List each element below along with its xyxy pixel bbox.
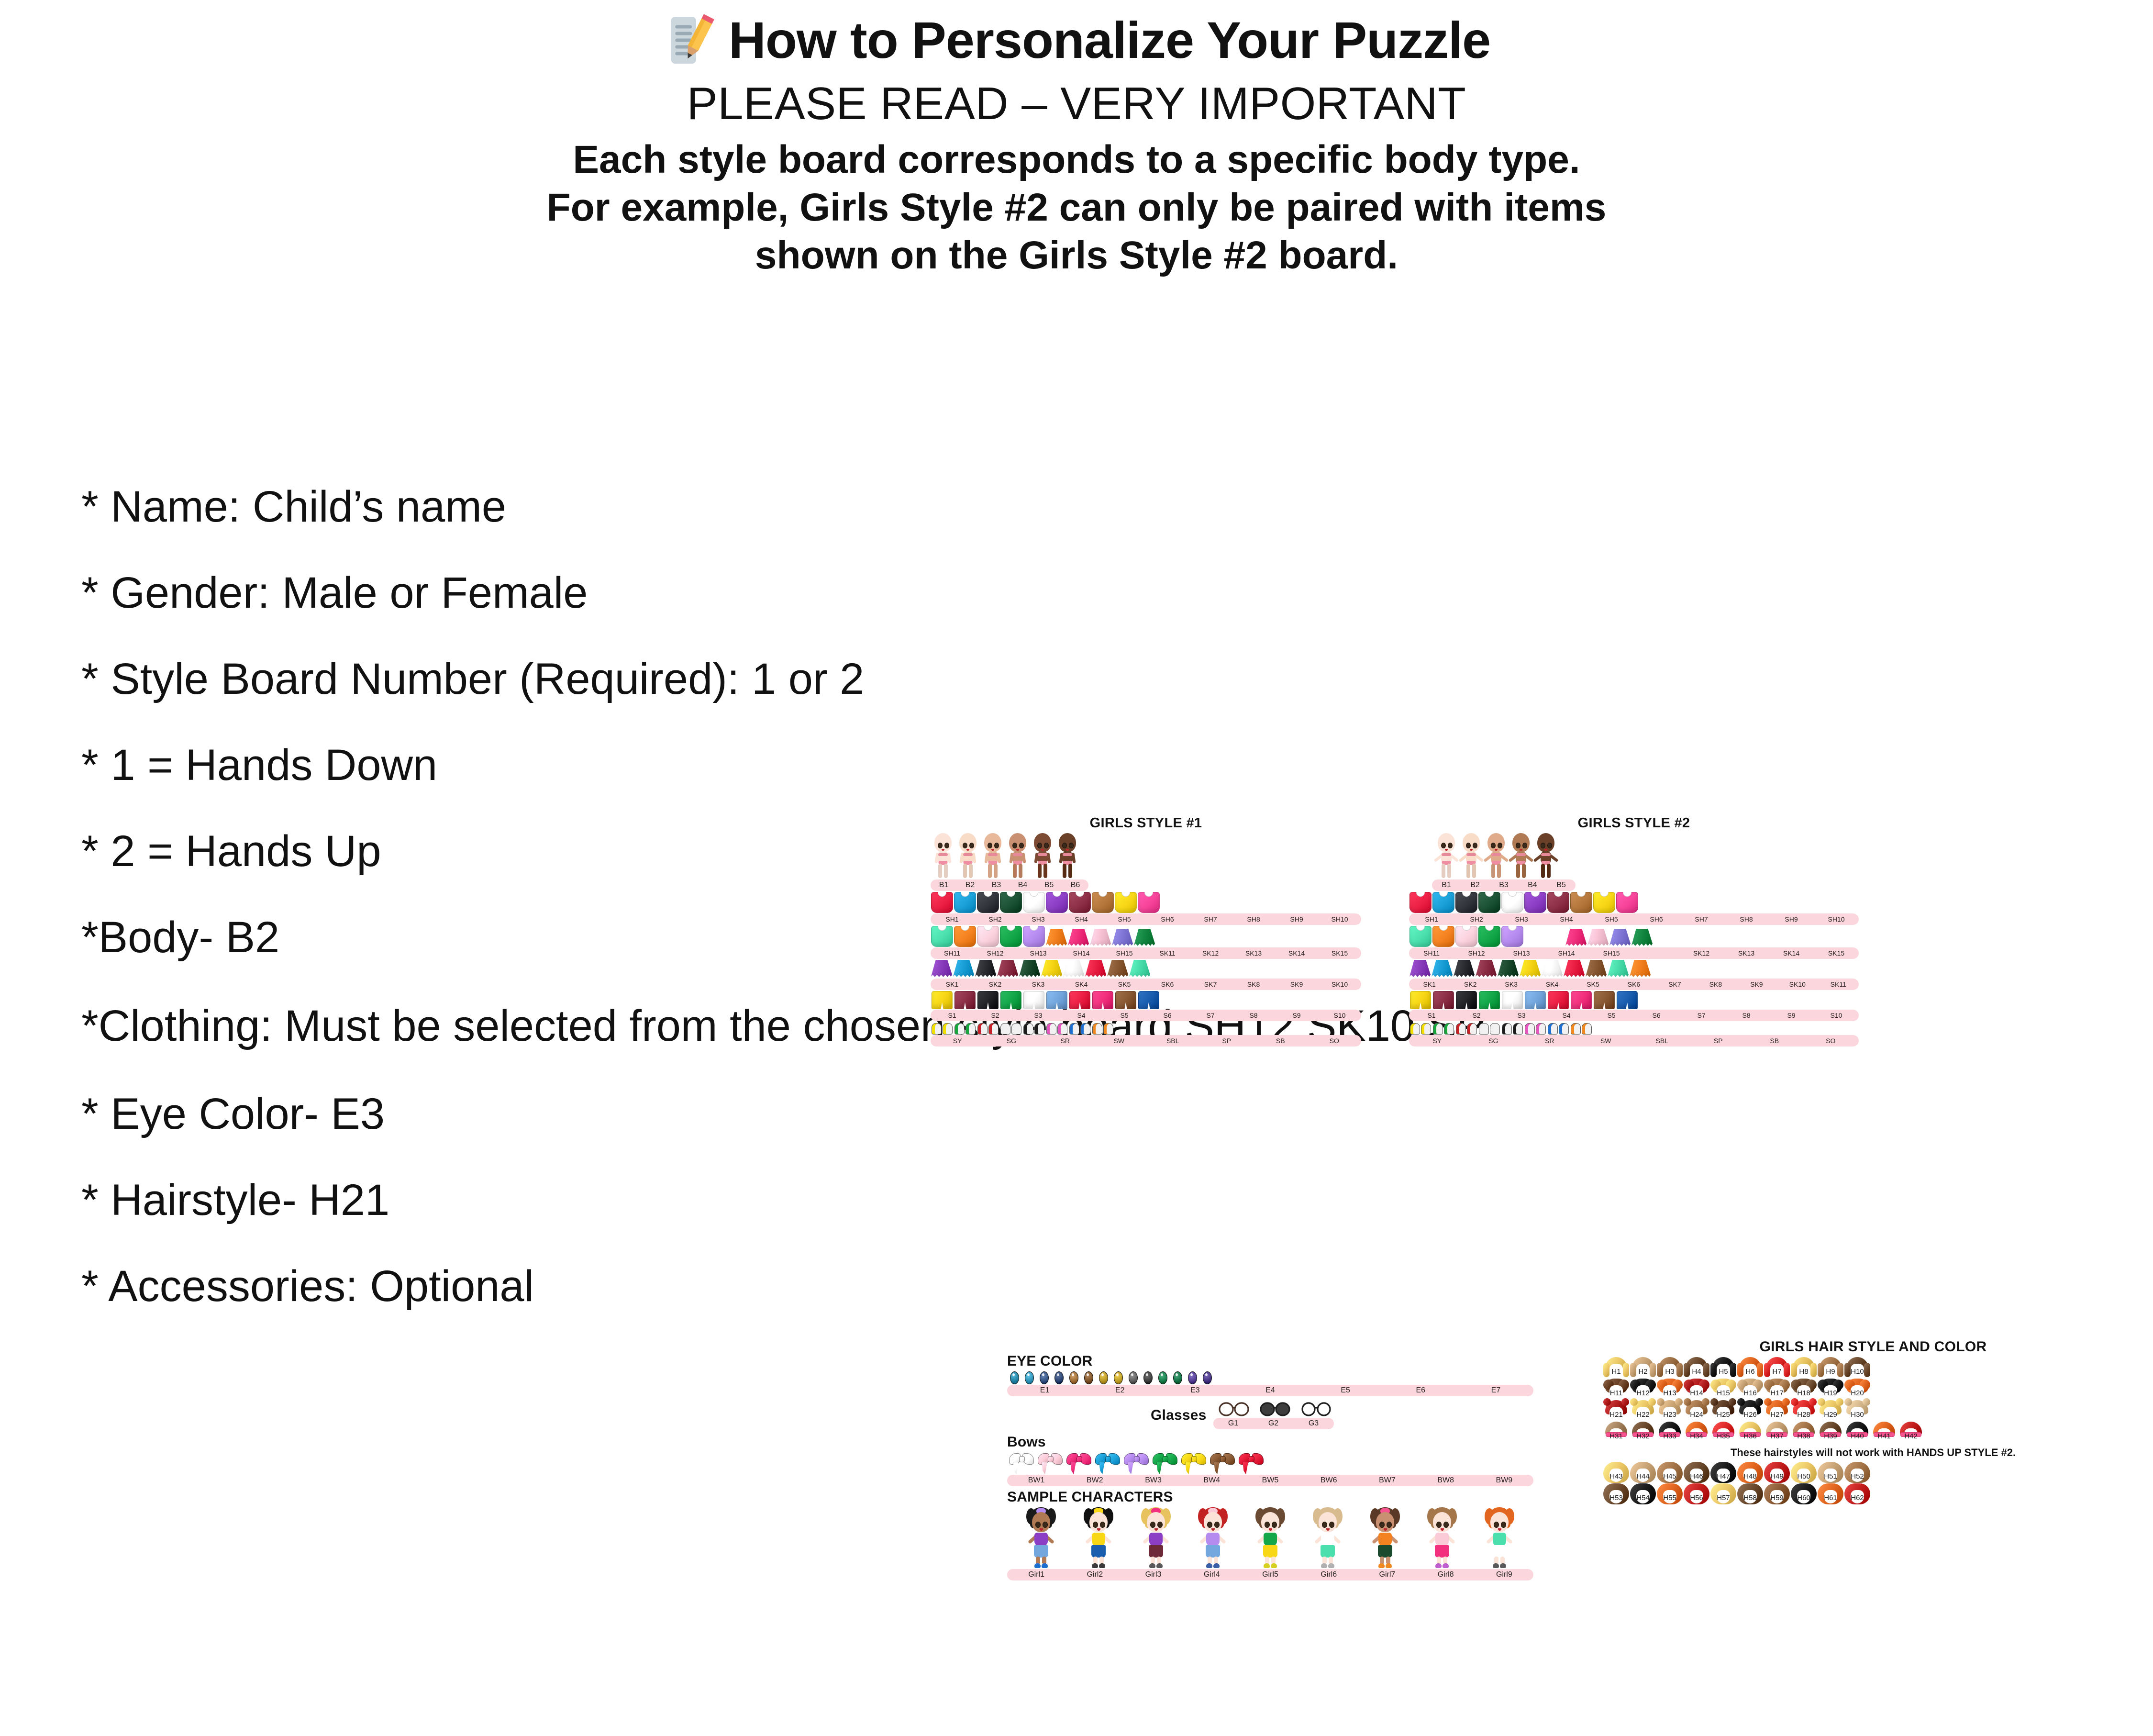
skirt-item[interactable]	[1090, 929, 1111, 947]
item-label: SH7	[1679, 915, 1724, 923]
hairstyle-item[interactable]: H18	[1791, 1379, 1817, 1400]
shirt-item[interactable]	[931, 892, 953, 913]
item-label: SH2	[1454, 915, 1499, 923]
hairstyle-item[interactable]: H36	[1737, 1422, 1763, 1443]
hairstyle-item[interactable]: H35	[1710, 1422, 1736, 1443]
shirt-item[interactable]	[1000, 926, 1022, 947]
item-label: S2	[1454, 1012, 1499, 1019]
hairstyle-item[interactable]: H33	[1657, 1422, 1683, 1443]
hairstyle-item[interactable]: H8	[1791, 1357, 1817, 1378]
shoe-item[interactable]	[1502, 1022, 1523, 1035]
hair-label: H62	[1844, 1494, 1870, 1502]
bow-item[interactable]	[1210, 1452, 1235, 1474]
item-strip	[931, 892, 1361, 913]
skirt-item[interactable]	[1041, 960, 1062, 978]
shorts-item[interactable]	[1502, 991, 1523, 1009]
label-bar: SYSGSRSWSBLSPSBSO	[1409, 1035, 1859, 1046]
shorts-item[interactable]	[1433, 991, 1454, 1009]
hairstyle-item[interactable]: H19	[1818, 1379, 1843, 1400]
shirt-item[interactable]	[977, 892, 999, 913]
item-strip	[1007, 1507, 1533, 1569]
shorts-item[interactable]	[1115, 991, 1136, 1009]
hairstyle-item[interactable]: H14	[1684, 1379, 1709, 1400]
item-label: SK1	[931, 980, 974, 988]
skirt-item[interactable]	[1134, 929, 1155, 947]
hairstyle-item[interactable]: H13	[1657, 1379, 1683, 1400]
sample-character[interactable]	[1370, 1507, 1400, 1569]
hairstyle-item[interactable]: H62	[1844, 1483, 1870, 1504]
hairstyle-item[interactable]: H46	[1684, 1462, 1709, 1483]
board-row: E1E2E3E4E5E6E7	[1007, 1371, 1533, 1396]
item-label: E7	[1458, 1386, 1533, 1395]
shoe-item[interactable]	[1456, 1022, 1477, 1035]
hair-label: H17	[1764, 1389, 1790, 1397]
list-item: * 1 = Hands Down	[81, 743, 2091, 787]
shoe-item[interactable]	[1479, 1022, 1500, 1035]
shirt-item[interactable]	[1432, 926, 1454, 947]
sample-character[interactable]	[1485, 1507, 1514, 1569]
shirt-item[interactable]	[1069, 892, 1091, 913]
skirt-item[interactable]	[931, 960, 952, 978]
label-bar: SK1SK2SK3SK4SK5SK6SK7SK8SK9SK10	[931, 979, 1361, 990]
shorts-item[interactable]	[1138, 991, 1159, 1009]
eye-color-swatch[interactable]	[1084, 1371, 1093, 1384]
body-figure[interactable]	[1030, 833, 1055, 879]
shorts-item[interactable]	[954, 991, 976, 1009]
item-label: SH11	[931, 949, 974, 957]
skirt-item[interactable]	[953, 960, 974, 978]
hairstyle-item[interactable]: H29	[1818, 1400, 1843, 1421]
hair-label: H23	[1657, 1411, 1683, 1419]
shirt-item[interactable]	[1501, 926, 1523, 947]
shorts-item[interactable]	[1479, 991, 1500, 1009]
item-label: E2	[1082, 1386, 1157, 1395]
shirt-item[interactable]	[1432, 892, 1454, 913]
item-strip	[1409, 1022, 1859, 1035]
bow-item[interactable]	[1181, 1452, 1206, 1474]
item-label: SW	[1578, 1037, 1634, 1045]
hair-label: H49	[1764, 1472, 1790, 1480]
body-figure[interactable]	[1509, 833, 1533, 879]
hairstyle-item[interactable]: H28	[1791, 1400, 1817, 1421]
board-row: SK1SK2SK3SK4SK5SK6SK7SK8SK9SK10SK11	[1409, 960, 1859, 990]
item-label: Girl3	[1124, 1570, 1182, 1579]
label-bar: Girl1Girl2Girl3Girl4Girl5Girl6Girl7Girl8…	[1007, 1569, 1533, 1580]
skirt-item[interactable]	[1586, 960, 1607, 978]
glasses-sunglasses-dark-icon[interactable]	[1258, 1401, 1292, 1417]
skirt-item[interactable]	[1542, 960, 1563, 978]
shirt-item[interactable]	[1092, 892, 1114, 913]
item-label: S3	[1499, 1012, 1544, 1019]
skirt-item[interactable]	[1019, 960, 1040, 978]
hairstyle-item[interactable]: H55	[1657, 1483, 1683, 1504]
shirt-item[interactable]	[1547, 892, 1569, 913]
eye-color-swatch[interactable]	[1025, 1371, 1034, 1384]
item-label: SH4	[1544, 915, 1589, 923]
hair-label: H20	[1844, 1389, 1870, 1397]
hairstyle-item[interactable]: H23	[1657, 1400, 1683, 1421]
shoe-item[interactable]	[1046, 1022, 1067, 1035]
skirt-item[interactable]	[1129, 960, 1150, 978]
shoe-item[interactable]	[1092, 1022, 1113, 1035]
glasses-round-clear-icon[interactable]	[1299, 1401, 1333, 1417]
sample-character[interactable]	[1198, 1507, 1228, 1569]
skirt-item[interactable]	[1631, 929, 1653, 947]
hair-label: H44	[1630, 1472, 1656, 1480]
hairstyle-item[interactable]: H56	[1684, 1483, 1709, 1504]
label-bar: SH1SH2SH3SH4SH5SH6SH7SH8SH9SH10	[931, 913, 1361, 925]
hairstyle-item[interactable]: H16	[1737, 1379, 1763, 1400]
eye-color-swatch[interactable]	[1069, 1371, 1078, 1384]
hairstyle-item[interactable]: H6	[1737, 1357, 1763, 1378]
hairstyle-item[interactable]: H20	[1844, 1379, 1870, 1400]
hairstyle-item[interactable]: H61	[1818, 1483, 1843, 1504]
item-label: SH15	[1589, 949, 1634, 957]
hair-label: H55	[1657, 1494, 1683, 1502]
body-figure[interactable]	[980, 833, 1005, 879]
hair-label: H25	[1710, 1411, 1736, 1419]
shorts-item[interactable]	[977, 991, 999, 1009]
hairstyle-item[interactable]: H49	[1764, 1462, 1790, 1483]
item-label: S4	[1544, 1012, 1589, 1019]
hair-label: H4	[1684, 1368, 1709, 1376]
item-label: E3	[1157, 1386, 1232, 1395]
hairstyle-item[interactable]: H54	[1630, 1483, 1656, 1504]
sample-character[interactable]	[1255, 1507, 1285, 1569]
hairstyle-item[interactable]: H4	[1684, 1357, 1709, 1378]
label-bar: G1G2G3	[1213, 1418, 1334, 1429]
shirt-item[interactable]	[954, 892, 976, 913]
skirt-item[interactable]	[1068, 929, 1089, 947]
hair-label: H35	[1710, 1432, 1736, 1440]
shoe-item[interactable]	[932, 1022, 953, 1035]
board-row: SH1SH2SH3SH4SH5SH6SH7SH8SH9SH10	[931, 892, 1361, 925]
skirt-item[interactable]	[1565, 929, 1587, 947]
item-strip	[931, 960, 1361, 978]
item-label: SH9	[1275, 915, 1318, 923]
shirt-item[interactable]	[1000, 892, 1022, 913]
bow-item[interactable]	[1038, 1452, 1063, 1474]
shorts-item[interactable]	[1571, 991, 1592, 1009]
hairstyle-item[interactable]: H10	[1844, 1357, 1870, 1378]
skirt-item[interactable]	[1085, 960, 1106, 978]
hairstyle-item[interactable]: H43	[1603, 1462, 1629, 1483]
skirt-item[interactable]	[1609, 929, 1631, 947]
hairstyle-item[interactable]: H50	[1791, 1462, 1817, 1483]
hair-label: H34	[1684, 1432, 1709, 1440]
body-figure[interactable]	[1459, 833, 1484, 879]
hair-label: H40	[1844, 1432, 1870, 1440]
shorts-item[interactable]	[1525, 991, 1546, 1009]
hairstyle-item[interactable]: H1	[1603, 1357, 1629, 1378]
hairstyle-item[interactable]: H48	[1737, 1462, 1763, 1483]
skirt-item[interactable]	[1630, 960, 1651, 978]
item-label: S1	[931, 1012, 974, 1019]
body-figure[interactable]	[955, 833, 980, 879]
shirt-item[interactable]	[1138, 892, 1160, 913]
hairstyle-item[interactable]: H21	[1603, 1400, 1629, 1421]
item-label: G1	[1213, 1419, 1254, 1428]
shirt-item[interactable]	[1409, 926, 1432, 947]
sample-character[interactable]	[1026, 1507, 1056, 1569]
page-title: How to Personalize Your Puzzle	[729, 14, 1490, 66]
shorts-item[interactable]	[1000, 991, 1021, 1009]
shorts-item[interactable]	[1594, 991, 1615, 1009]
label-bar: S1S2S3S4S5S6S7S8S9S10	[931, 1010, 1361, 1021]
hairstyle-item[interactable]: H2	[1630, 1357, 1656, 1378]
body-figure[interactable]	[931, 833, 955, 879]
item-label: S7	[1679, 1012, 1724, 1019]
board-row: B1B2B3B4B5B6	[931, 833, 1361, 891]
hairstyle-item[interactable]: H32	[1630, 1422, 1656, 1443]
memo-pencil-icon	[663, 13, 716, 67]
hairstyle-item[interactable]: H40	[1844, 1422, 1870, 1443]
body-figure[interactable]	[1055, 833, 1080, 879]
shirt-item[interactable]	[1455, 892, 1477, 913]
item-label: S1	[1409, 1012, 1454, 1019]
label-bar: SH1SH2SH3SH4SH5SH6SH7SH8SH9SH10	[1409, 913, 1859, 925]
eye-color-swatch[interactable]	[1129, 1371, 1138, 1384]
hair-label: H7	[1764, 1368, 1790, 1376]
shoe-item[interactable]	[954, 1022, 976, 1035]
hairstyle-item[interactable]: H31	[1603, 1422, 1629, 1443]
shirt-item[interactable]	[1478, 926, 1500, 947]
bow-item[interactable]	[1153, 1452, 1177, 1474]
item-label: B4	[1010, 881, 1036, 890]
item-label: SH1	[1409, 915, 1454, 923]
body-figure[interactable]	[1005, 833, 1030, 879]
shoe-item[interactable]	[977, 1022, 999, 1035]
item-label: SK3	[1491, 980, 1532, 988]
hairstyle-item[interactable]: H41	[1871, 1422, 1897, 1443]
skirt-item[interactable]	[1107, 960, 1128, 978]
hairstyle-item[interactable]: H57	[1710, 1483, 1736, 1504]
shorts-item[interactable]	[1410, 991, 1431, 1009]
eye-color-swatch[interactable]	[1054, 1371, 1064, 1384]
shorts-item[interactable]	[1046, 991, 1067, 1009]
glasses-cat-eye-clear-icon[interactable]	[1217, 1401, 1251, 1417]
hairstyle-item[interactable]: H15	[1710, 1379, 1736, 1400]
eye-color-swatch[interactable]	[1203, 1371, 1212, 1384]
hair-label: H52	[1844, 1472, 1870, 1480]
shirt-item[interactable]	[977, 926, 999, 947]
item-label: B2	[957, 881, 983, 890]
hair-label: H16	[1737, 1389, 1763, 1397]
hairstyle-item[interactable]: H24	[1684, 1400, 1709, 1421]
shirt-item[interactable]	[931, 926, 953, 947]
hairstyle-item[interactable]: H3	[1657, 1357, 1683, 1378]
hair-row: H53H54H55H56H57H58H59H60H61H62	[1603, 1483, 2143, 1504]
shirt-item[interactable]	[1023, 926, 1045, 947]
hairstyle-item[interactable]: H17	[1764, 1379, 1790, 1400]
shoe-item[interactable]	[1000, 1022, 1021, 1035]
body-figure[interactable]	[1434, 833, 1459, 879]
hair-row: H21H22H23H24H25H26H27H28H29H30	[1603, 1400, 2143, 1421]
skirt-item[interactable]	[1432, 960, 1453, 978]
item-label: SK4	[1532, 980, 1572, 988]
item-label: B3	[983, 881, 1010, 890]
important-notice: Each style board corresponds to a specif…	[120, 136, 2033, 279]
skirt-item[interactable]	[975, 960, 996, 978]
eye-color-swatch[interactable]	[1158, 1371, 1167, 1384]
hairstyle-item[interactable]: H45	[1657, 1462, 1683, 1483]
hair-label: H41	[1871, 1432, 1897, 1440]
item-label: BW3	[1124, 1476, 1182, 1485]
shorts-item[interactable]	[932, 991, 953, 1009]
hairstyle-item[interactable]: H53	[1603, 1483, 1629, 1504]
sample-character[interactable]	[1313, 1507, 1343, 1569]
hairstyle-item[interactable]: H47	[1710, 1462, 1736, 1483]
hairstyle-item[interactable]: H58	[1737, 1483, 1763, 1504]
shirt-item[interactable]	[1478, 892, 1500, 913]
shoe-item[interactable]	[1525, 1022, 1546, 1035]
shirt-item[interactable]	[1046, 892, 1068, 913]
shoe-item[interactable]	[1571, 1022, 1592, 1035]
shoe-item[interactable]	[1410, 1022, 1431, 1035]
board-row: SH11SH12SH13SH14SH15SK11SK12SK13SK14SK15	[931, 926, 1361, 959]
shirt-item[interactable]	[954, 926, 976, 947]
hairstyle-item[interactable]: H26	[1737, 1400, 1763, 1421]
skirt-item[interactable]	[1454, 960, 1475, 978]
shorts-item[interactable]	[1069, 991, 1090, 1009]
label-bar: S1S2S3S4S5S6S7S8S9S10	[1409, 1010, 1859, 1021]
shirt-item[interactable]	[1115, 892, 1137, 913]
shirt-item[interactable]	[1593, 892, 1615, 913]
bow-item[interactable]	[1124, 1452, 1149, 1474]
sample-character[interactable]	[1427, 1507, 1457, 1569]
shorts-item[interactable]	[1092, 991, 1113, 1009]
bow-item[interactable]	[1095, 1452, 1120, 1474]
hair-label: H3	[1657, 1368, 1683, 1376]
eye-color-swatch[interactable]	[1010, 1371, 1019, 1384]
hairstyle-item[interactable]: H39	[1818, 1422, 1843, 1443]
hairstyle-item[interactable]: H37	[1764, 1422, 1790, 1443]
skirt-item[interactable]	[1498, 960, 1519, 978]
item-label: SH5	[1103, 915, 1146, 923]
hairstyle-item[interactable]: H9	[1818, 1357, 1843, 1378]
eye-color-swatch[interactable]	[1114, 1371, 1123, 1384]
body-figure[interactable]	[1484, 833, 1509, 879]
hairstyle-item[interactable]: H5	[1710, 1357, 1736, 1378]
skirt-item[interactable]	[1564, 960, 1585, 978]
hairstyle-item[interactable]: H38	[1791, 1422, 1817, 1443]
item-label: BW9	[1475, 1476, 1533, 1485]
shorts-item[interactable]	[1023, 991, 1044, 1009]
item-label: S4	[1060, 1012, 1103, 1019]
shoe-item[interactable]	[1023, 1022, 1044, 1035]
skirt-item[interactable]	[1112, 929, 1133, 947]
hair-label: H56	[1684, 1494, 1709, 1502]
hair-label: H39	[1818, 1432, 1843, 1440]
hairstyle-item[interactable]: H42	[1898, 1422, 1924, 1443]
instruction-sheet: How to Personalize Your Puzzle PLEASE RE…	[0, 13, 2153, 1736]
hairstyle-item[interactable]: H44	[1630, 1462, 1656, 1483]
bow-item[interactable]	[1066, 1452, 1091, 1474]
hairstyle-item[interactable]: H59	[1764, 1483, 1790, 1504]
shoe-item[interactable]	[1433, 1022, 1454, 1035]
board-row: SYSGSRSWSBLSPSBSO	[931, 1022, 1361, 1046]
item-label: SK15	[1318, 949, 1361, 957]
shirt-item[interactable]	[1501, 892, 1523, 913]
item-label: S10	[1318, 1012, 1361, 1019]
shorts-item[interactable]	[1617, 991, 1638, 1009]
item-label: SK10	[1777, 980, 1818, 988]
accessories-panel: EYE COLOR E1E2E3E4E5E6E7 GlassesG1G2G3 B…	[1007, 1353, 1533, 1581]
shirt-item[interactable]	[1023, 892, 1045, 913]
shirt-item[interactable]	[1570, 892, 1592, 913]
hairstyle-item[interactable]: H7	[1764, 1357, 1790, 1378]
shirt-item[interactable]	[1409, 892, 1432, 913]
eye-color-swatch[interactable]	[1188, 1371, 1197, 1384]
item-label: BW2	[1065, 1476, 1124, 1485]
hair-label: H54	[1630, 1494, 1656, 1502]
sample-character[interactable]	[1141, 1507, 1171, 1569]
hairstyle-item[interactable]: H34	[1684, 1422, 1709, 1443]
eye-color-swatch[interactable]	[1099, 1371, 1108, 1384]
item-label: S7	[1189, 1012, 1232, 1019]
list-item: * Style Board Number (Required): 1 or 2	[81, 657, 2091, 701]
skirt-item[interactable]	[1046, 929, 1067, 947]
hairstyle-item[interactable]: H60	[1791, 1483, 1817, 1504]
hairstyle-item[interactable]: H25	[1710, 1400, 1736, 1421]
hairstyle-item[interactable]: H30	[1844, 1400, 1870, 1421]
skirt-item[interactable]	[1476, 960, 1497, 978]
shirt-item[interactable]	[1455, 926, 1477, 947]
skirt-item[interactable]	[1063, 960, 1084, 978]
shirt-item[interactable]	[1616, 892, 1638, 913]
hair-label: H18	[1791, 1389, 1817, 1397]
shoe-item[interactable]	[1069, 1022, 1090, 1035]
skirt-item[interactable]	[997, 960, 1018, 978]
hairstyle-item[interactable]: H22	[1630, 1400, 1656, 1421]
hairstyle-item[interactable]: H52	[1844, 1462, 1870, 1483]
item-label: SK14	[1769, 949, 1814, 957]
hairstyle-item[interactable]: H12	[1630, 1379, 1656, 1400]
item-label: SK5	[1573, 980, 1613, 988]
item-label: SO	[1803, 1037, 1859, 1045]
sample-character[interactable]	[1084, 1507, 1113, 1569]
skirt-item[interactable]	[1587, 929, 1609, 947]
item-label: SH1	[931, 915, 974, 923]
skirt-item[interactable]	[1409, 960, 1431, 978]
item-label: SK4	[1060, 980, 1103, 988]
body-figure[interactable]	[1533, 833, 1558, 879]
shorts-item[interactable]	[1456, 991, 1477, 1009]
item-strip	[931, 833, 1361, 879]
shirt-item[interactable]	[1524, 892, 1546, 913]
item-label: B5	[1036, 881, 1062, 890]
hair-label: H47	[1710, 1472, 1736, 1480]
bow-item[interactable]	[1009, 1452, 1034, 1474]
bow-item[interactable]	[1239, 1452, 1264, 1474]
eye-color-swatch[interactable]	[1040, 1371, 1049, 1384]
skirt-item[interactable]	[1520, 960, 1541, 978]
item-strip	[1409, 926, 1859, 947]
eye-color-swatch[interactable]	[1173, 1371, 1182, 1384]
shoe-item[interactable]	[1548, 1022, 1569, 1035]
skirt-item[interactable]	[1608, 960, 1629, 978]
hairstyle-item[interactable]: H51	[1818, 1462, 1843, 1483]
label-bar: BW1BW2BW3BW4BW5BW6BW7BW8BW9	[1007, 1475, 1533, 1486]
hairstyle-item[interactable]: H11	[1603, 1379, 1629, 1400]
eye-color-swatch[interactable]	[1143, 1371, 1153, 1384]
item-label: SR	[1038, 1037, 1092, 1045]
item-label: SK8	[1695, 980, 1736, 988]
hairstyle-item[interactable]: H27	[1764, 1400, 1790, 1421]
item-label: S8	[1232, 1012, 1275, 1019]
shorts-item[interactable]	[1548, 991, 1569, 1009]
item-label: SK8	[1232, 980, 1275, 988]
